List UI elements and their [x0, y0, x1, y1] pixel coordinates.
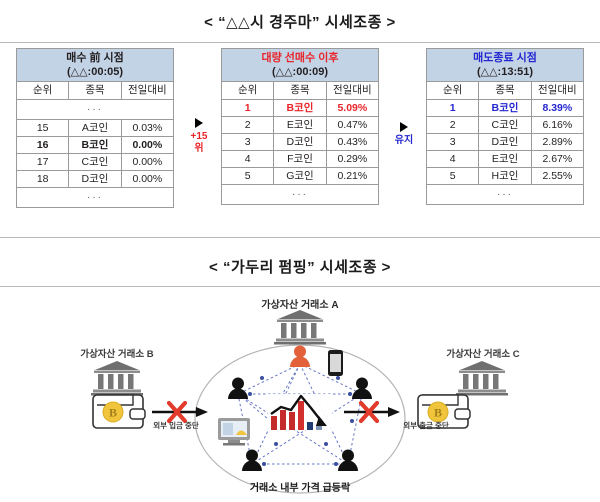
table-before-buy: 매수 前 시점 (△△:00:05) 순위 종목 전일대비 ··· 15 A코인… — [16, 48, 174, 208]
caption-line2: (△△:00:05) — [67, 66, 123, 78]
triangle-right-icon — [400, 122, 408, 132]
bank-icon-b — [91, 361, 143, 396]
cell-change: 0.03% — [121, 120, 173, 137]
cell-change: 2.55% — [531, 168, 583, 185]
label-inside-volatility: 거래소 내부 가격 급등락 — [215, 479, 385, 494]
bank-icon-c — [456, 361, 508, 396]
caption-line1: 매수 前 시점 — [66, 52, 124, 64]
pump-diagram: B — [0, 286, 600, 502]
cell-change: 8.39% — [531, 100, 583, 117]
table-header-row: 순위 종목 전일대비 — [427, 82, 584, 100]
cell-rank: 5 — [427, 168, 479, 185]
table-after-bulk-buy: 대량 선매수 이후 (△△:00:09) 순위 종목 전일대비 1 B코인 5.… — [221, 48, 379, 205]
red-x-block-icon-deposit — [152, 403, 208, 421]
cell-rank: 17 — [17, 154, 69, 171]
table-row: 2 C코인 6.16% — [427, 117, 584, 134]
cell-name: D코인 — [69, 171, 121, 188]
caption-line2: (△△:13:51) — [477, 66, 533, 78]
cell-change: 0.00% — [121, 171, 173, 188]
label-withdraw-stop: 외부 출금 중단 — [388, 420, 464, 431]
section-title-horse-race: < “△△시 경주마” 시세조종 > — [0, 11, 600, 32]
cell-change: 5.09% — [326, 100, 378, 117]
cell-rank: 3 — [222, 134, 274, 151]
step-arrow-rank-gain: +15 위 — [176, 118, 222, 155]
red-x-block-icon-withdraw — [344, 403, 400, 421]
cell-rank: 4 — [222, 151, 274, 168]
col-name: 종목 — [274, 82, 326, 100]
person-orange-icon — [290, 346, 310, 368]
ellipsis-row-bottom: ··· — [427, 185, 584, 205]
table-row: 3 D코인 2.89% — [427, 134, 584, 151]
label-exchange-b: 가상자산 거래소 B — [52, 346, 182, 360]
cell-name: D코인 — [479, 134, 531, 151]
cell-change: 6.16% — [531, 117, 583, 134]
person-icon-left-bottom — [242, 450, 262, 472]
bank-icon-a — [274, 310, 326, 345]
label-exchange-a: 가상자산 거래소 A — [232, 296, 368, 311]
arrow-label-line2: 위 — [194, 143, 203, 154]
col-name: 종목 — [479, 82, 531, 100]
cell-name: E코인 — [479, 151, 531, 168]
person-icon-right-bottom — [338, 450, 358, 472]
table-row: 2 E코인 0.47% — [222, 117, 379, 134]
page-root: < “△△시 경주마” 시세조종 > 매수 前 시점 (△△:00:05) 순위… — [0, 0, 600, 502]
arrow-label-line1: +15 — [191, 131, 208, 142]
ellipsis-cell: ··· — [17, 100, 174, 120]
cell-rank: 16 — [17, 137, 69, 154]
col-rank: 순위 — [17, 82, 69, 100]
col-change: 전일대비 — [531, 82, 583, 100]
col-rank: 순위 — [427, 82, 479, 100]
cell-change: 2.89% — [531, 134, 583, 151]
cell-rank: 1 — [427, 100, 479, 117]
ellipsis-row-bottom: ··· — [222, 185, 379, 205]
table-row: 3 D코인 0.43% — [222, 134, 379, 151]
cell-name: C코인 — [69, 154, 121, 171]
person-icon-left-top — [228, 378, 248, 400]
cell-change: 2.67% — [531, 151, 583, 168]
col-rank: 순위 — [222, 82, 274, 100]
cell-rank: 15 — [17, 120, 69, 137]
cell-name: F코인 — [274, 151, 326, 168]
cell-rank: 2 — [427, 117, 479, 134]
label-deposit-stop: 외부 입금 중단 — [138, 420, 214, 431]
cell-name: B코인 — [479, 100, 531, 117]
person-icon-right-top — [352, 378, 372, 400]
col-change: 전일대비 — [326, 82, 378, 100]
cell-rank: 3 — [427, 134, 479, 151]
cell-name: C코인 — [479, 117, 531, 134]
table-row-highlight: 1 B코인 8.39% — [427, 100, 584, 117]
bar-chart-icon — [268, 394, 332, 430]
table-row: 5 H코인 2.55% — [427, 168, 584, 185]
table-row: 4 E코인 2.67% — [427, 151, 584, 168]
cell-name: B코인 — [274, 100, 326, 117]
cell-rank: 18 — [17, 171, 69, 188]
caption-line1: 매도종료 시점 — [473, 52, 537, 64]
divider-top — [0, 42, 600, 43]
cell-name: H코인 — [479, 168, 531, 185]
table-caption: 대량 선매수 이후 (△△:00:09) — [222, 49, 379, 82]
table-after-sell-complete: 매도종료 시점 (△△:13:51) 순위 종목 전일대비 1 B코인 8.39… — [426, 48, 584, 205]
smartphone-icon — [328, 350, 343, 376]
cell-rank: 5 — [222, 168, 274, 185]
cell-change: 0.29% — [326, 151, 378, 168]
arrow-label-line1: 유지 — [395, 135, 413, 146]
cell-name: B코인 — [69, 137, 121, 154]
step-arrow-maintain: 유지 — [381, 122, 427, 147]
monitor-icon — [218, 418, 250, 446]
cell-name: E코인 — [274, 117, 326, 134]
table-row: 4 F코인 0.29% — [222, 151, 379, 168]
caption-line2: (△△:00:09) — [272, 66, 328, 78]
table-row-highlight: 16 B코인 0.00% — [17, 137, 174, 154]
section-title-pump: < “가두리 펌핑” 시세조종 > — [0, 256, 600, 277]
ellipsis-cell: ··· — [427, 185, 584, 205]
diagram-graphics: B — [0, 286, 600, 502]
cell-name: G코인 — [274, 168, 326, 185]
table-row: 15 A코인 0.03% — [17, 120, 174, 137]
col-name: 종목 — [69, 82, 121, 100]
label-exchange-c: 가상자산 거래소 C — [418, 346, 548, 360]
divider-middle — [0, 237, 600, 238]
ellipsis-cell: ··· — [222, 185, 379, 205]
caption-line1: 대량 선매수 이후 — [262, 52, 339, 64]
table-caption: 매도종료 시점 (△△:13:51) — [427, 49, 584, 82]
table-header-row: 순위 종목 전일대비 — [222, 82, 379, 100]
col-change: 전일대비 — [121, 82, 173, 100]
cell-rank: 2 — [222, 117, 274, 134]
triangle-right-icon — [195, 118, 203, 128]
cell-change: 0.21% — [326, 168, 378, 185]
table-row: 5 G코인 0.21% — [222, 168, 379, 185]
cell-name: A코인 — [69, 120, 121, 137]
table-row: 18 D코인 0.00% — [17, 171, 174, 188]
ellipsis-cell: ··· — [17, 188, 174, 208]
cell-rank: 4 — [427, 151, 479, 168]
table-caption: 매수 前 시점 (△△:00:05) — [17, 49, 174, 82]
cell-change: 0.00% — [121, 137, 173, 154]
table-row: 17 C코인 0.00% — [17, 154, 174, 171]
cell-change: 0.43% — [326, 134, 378, 151]
ellipsis-row-bottom: ··· — [17, 188, 174, 208]
ellipsis-row-top: ··· — [17, 100, 174, 120]
table-row-highlight: 1 B코인 5.09% — [222, 100, 379, 117]
cell-change: 0.47% — [326, 117, 378, 134]
cell-rank: 1 — [222, 100, 274, 117]
table-header-row: 순위 종목 전일대비 — [17, 82, 174, 100]
cell-change: 0.00% — [121, 154, 173, 171]
cell-name: D코인 — [274, 134, 326, 151]
